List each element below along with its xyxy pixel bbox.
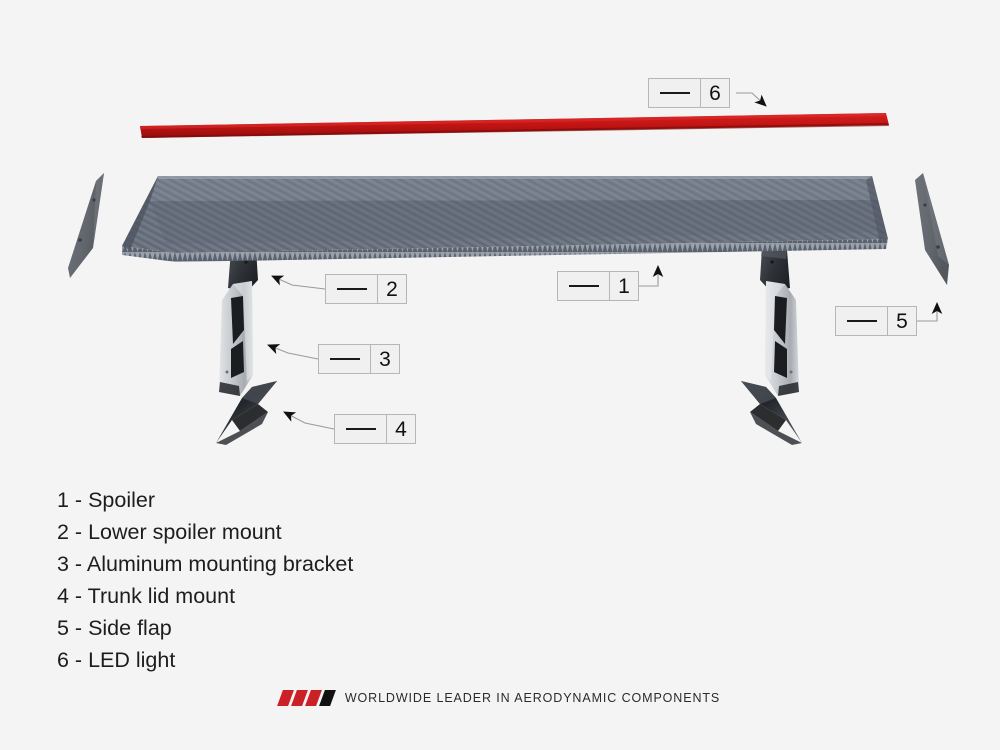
callout-dash-icon (660, 92, 690, 94)
part-side-flap-left (68, 173, 104, 278)
callout-4[interactable]: 4 (334, 414, 416, 444)
callout-4-dash-cell (335, 415, 387, 443)
callout-6-dash-cell (649, 79, 701, 107)
callout-5-number: 5 (888, 307, 916, 335)
footer-tagline: WORLDWIDE LEADER IN AERODYNAMIC COMPONEN… (345, 691, 720, 705)
callout-5[interactable]: 5 (835, 306, 917, 336)
footer-branding: WORLDWIDE LEADER IN AERODYNAMIC COMPONEN… (0, 690, 1000, 706)
legend-item-5: 5 - Side flap (57, 612, 353, 644)
callout-1-number: 1 (610, 272, 638, 300)
part-side-flap-right (915, 173, 949, 285)
parts-legend: 1 - Spoiler 2 - Lower spoiler mount 3 - … (57, 484, 353, 676)
callout-dash-icon (337, 288, 367, 290)
callout-dash-icon (569, 285, 599, 287)
brand-chevron-logo-icon (280, 690, 333, 706)
part-aluminum-mounting-bracket-left (219, 281, 253, 396)
callout-1-dash-cell (558, 272, 610, 300)
callout-1[interactable]: 1 (557, 271, 639, 301)
part-main-spoiler-wing (122, 176, 888, 262)
legend-item-6: 6 - LED light (57, 644, 353, 676)
legend-item-1: 1 - Spoiler (57, 484, 353, 516)
part-aluminum-mounting-bracket-right (765, 281, 799, 396)
callout-2-number: 2 (378, 275, 406, 303)
callout-2[interactable]: 2 (325, 274, 407, 304)
callout-dash-icon (330, 358, 360, 360)
legend-item-2: 2 - Lower spoiler mount (57, 516, 353, 548)
callout-dash-icon (346, 428, 376, 430)
callout-6-number: 6 (701, 79, 729, 107)
callout-4-number: 4 (387, 415, 415, 443)
legend-item-4: 4 - Trunk lid mount (57, 580, 353, 612)
diagram-canvas: 6 1 2 3 4 5 1 - Spoiler 2 - Lower spoile… (0, 0, 1000, 750)
callout-leader-lines (268, 93, 937, 429)
callout-2-dash-cell (326, 275, 378, 303)
callout-3-number: 3 (371, 345, 399, 373)
callout-dash-icon (847, 320, 877, 322)
legend-item-3: 3 - Aluminum mounting bracket (57, 548, 353, 580)
logo-bar-4 (319, 690, 336, 706)
callout-5-dash-cell (836, 307, 888, 335)
part-led-light-strip (140, 113, 889, 138)
callout-6[interactable]: 6 (648, 78, 730, 108)
callout-3-dash-cell (319, 345, 371, 373)
callout-3[interactable]: 3 (318, 344, 400, 374)
